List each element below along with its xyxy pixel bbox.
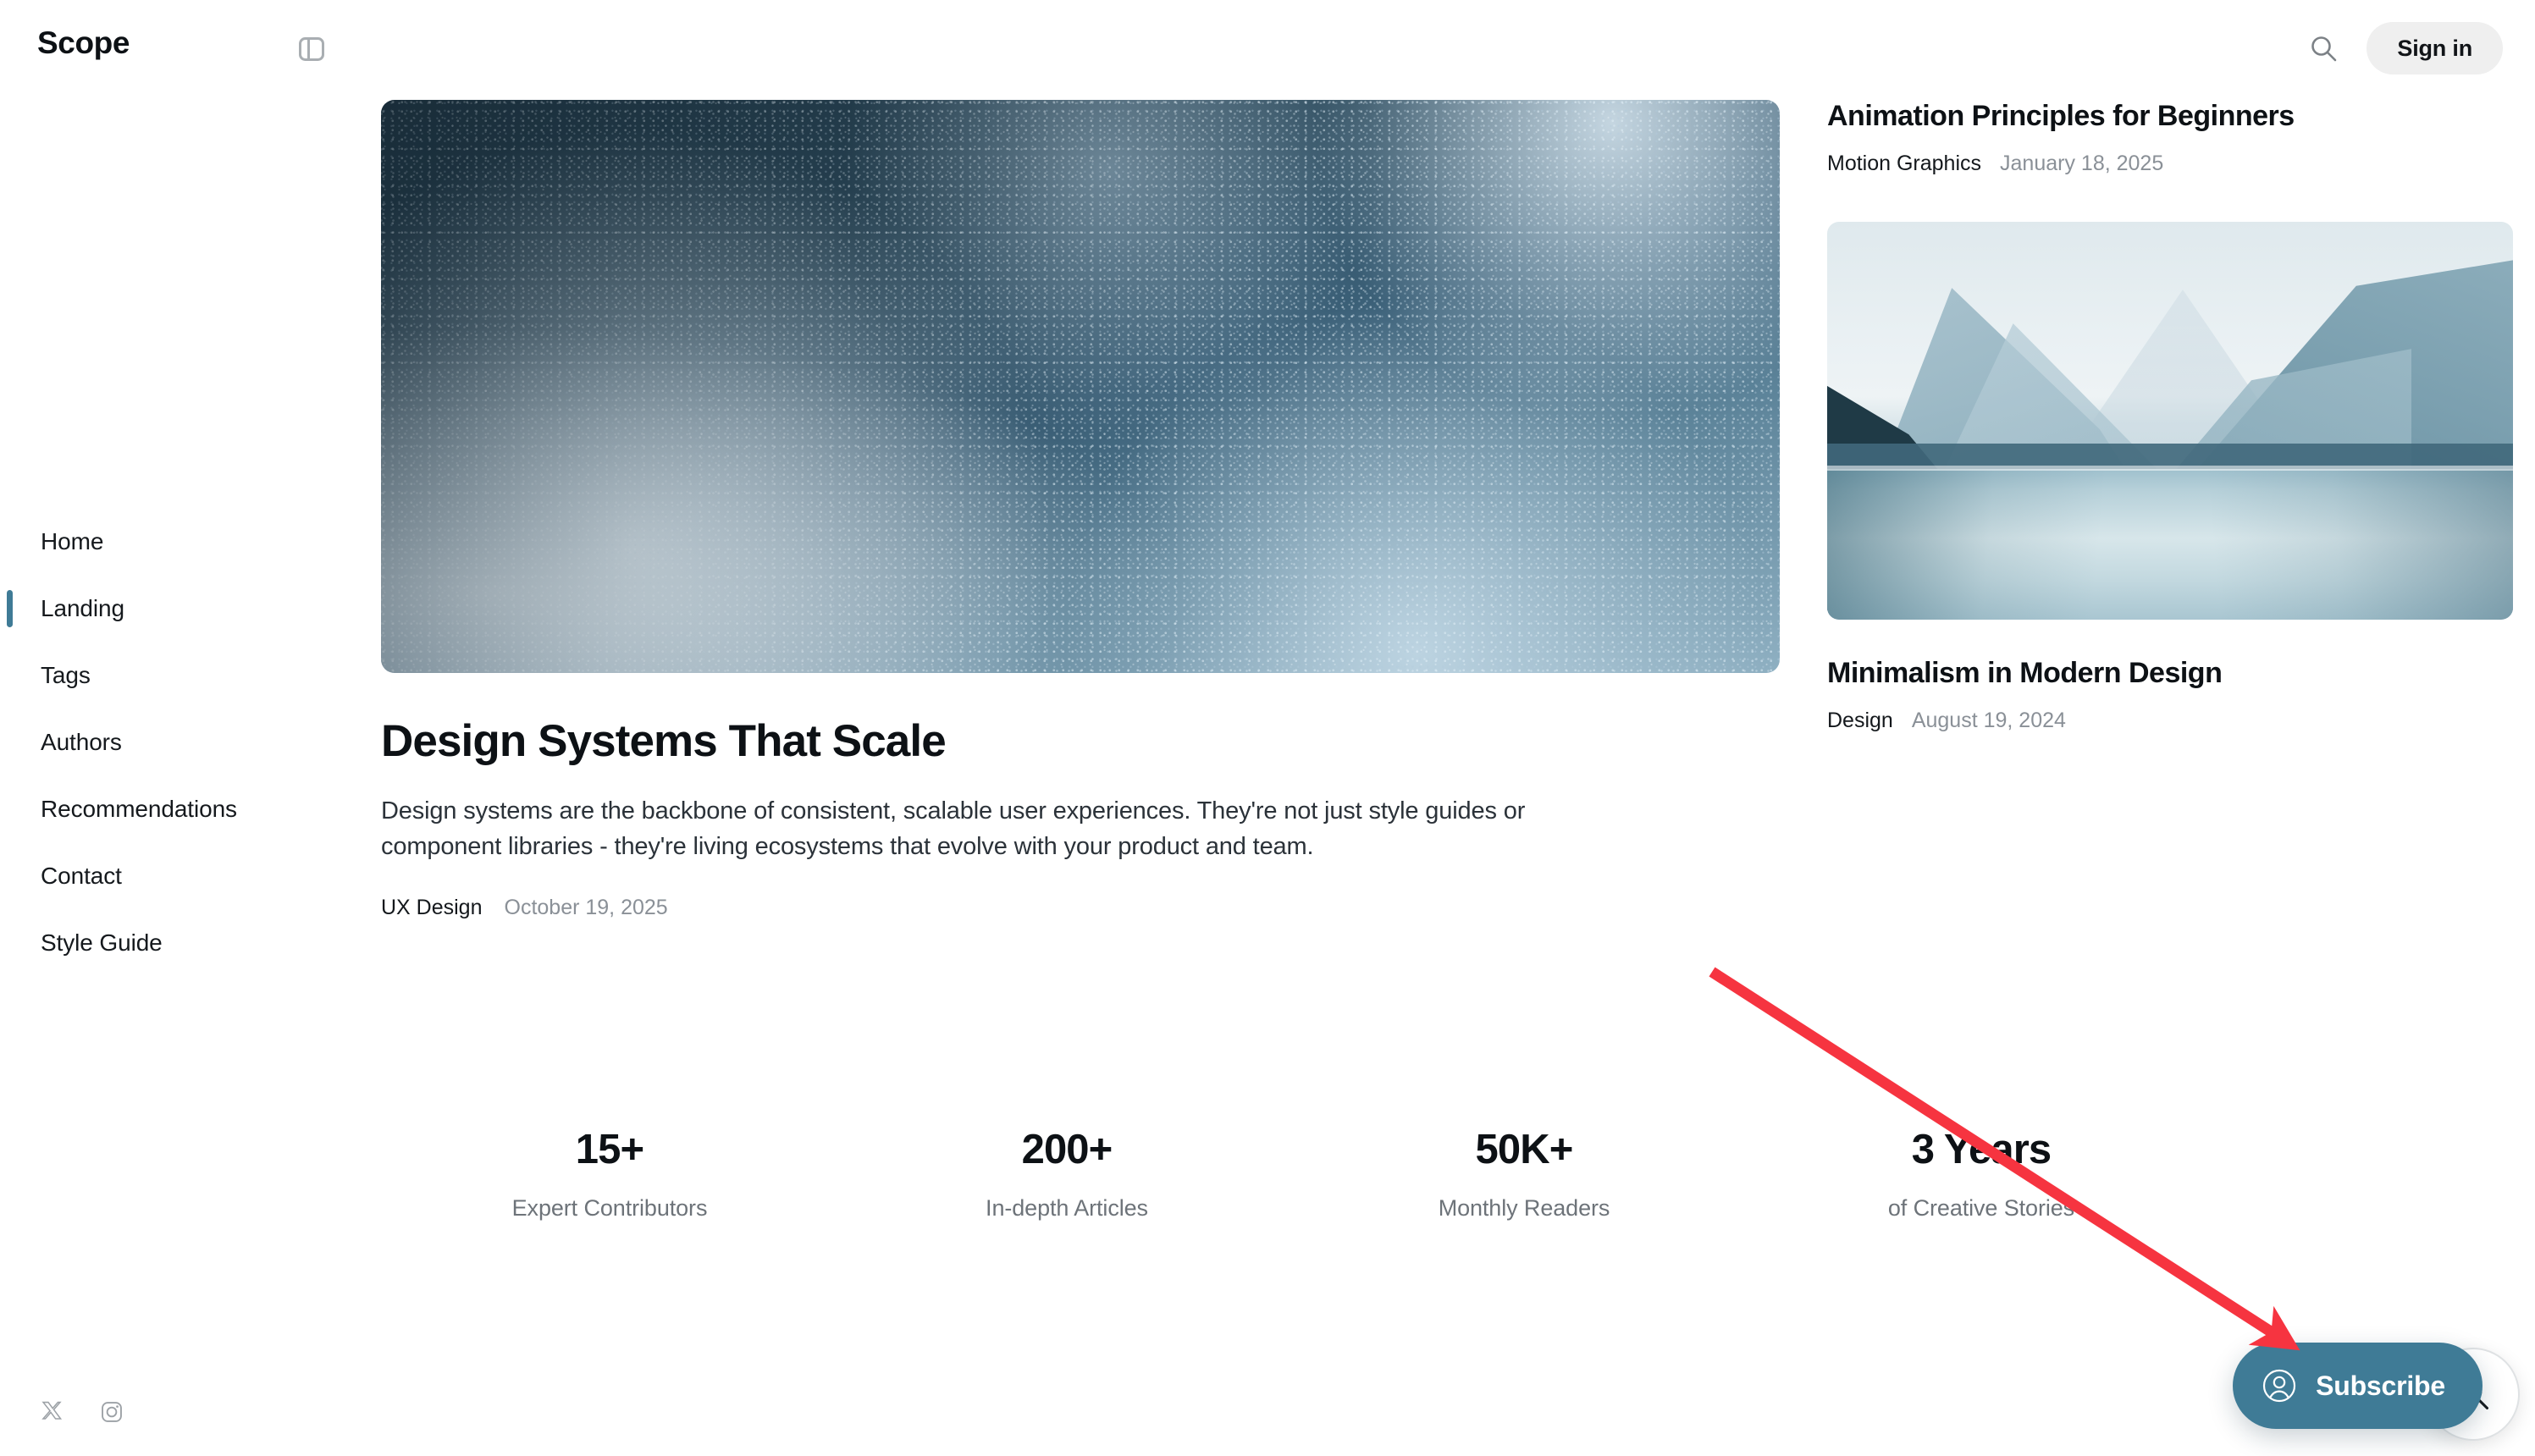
- stat-value: 200+: [838, 1126, 1295, 1173]
- side-post-category[interactable]: Design: [1827, 709, 1893, 733]
- sidebar-nav: Home Landing Tags Authors Recommendation…: [0, 508, 356, 976]
- sidebar-item-label: Landing: [41, 595, 124, 622]
- active-indicator: [7, 590, 13, 627]
- active-indicator: [7, 791, 13, 828]
- sidebar-item-style-guide[interactable]: Style Guide: [0, 909, 356, 976]
- featured-article-title[interactable]: Design Systems That Scale: [381, 717, 1780, 766]
- active-indicator: [7, 523, 13, 560]
- side-post-title[interactable]: Animation Principles for Beginners: [1827, 100, 2513, 133]
- stat-creative-stories: 3 Years of Creative Stories: [1753, 1126, 2210, 1222]
- sidebar-item-tags[interactable]: Tags: [0, 642, 356, 709]
- sidebar-item-label: Style Guide: [41, 929, 163, 957]
- sidebar-toggle-icon[interactable]: [295, 32, 329, 66]
- active-indicator: [7, 858, 13, 895]
- featured-article-meta: UX Design October 19, 2025: [381, 896, 1780, 920]
- side-post-image[interactable]: [1827, 222, 2513, 620]
- active-indicator: [7, 924, 13, 962]
- subscribe-button[interactable]: Subscribe: [2233, 1343, 2483, 1429]
- top-bar: Scope Sign in: [0, 0, 2535, 100]
- x-icon[interactable]: [41, 1400, 64, 1428]
- sidebar-item-authors[interactable]: Authors: [0, 709, 356, 775]
- water-horizon-line: [1827, 466, 2513, 471]
- stat-value: 3 Years: [1753, 1126, 2210, 1173]
- featured-article-date: October 19, 2025: [505, 896, 668, 920]
- featured-article-category[interactable]: UX Design: [381, 896, 483, 920]
- side-post-meta: Motion Graphics January 18, 2025: [1827, 152, 2513, 176]
- sidebar-item-landing[interactable]: Landing: [0, 575, 356, 642]
- instagram-icon[interactable]: [100, 1400, 124, 1428]
- side-post-date: January 18, 2025: [2000, 152, 2163, 176]
- side-post-category[interactable]: Motion Graphics: [1827, 152, 1981, 176]
- lake-reflection: [1827, 469, 2513, 620]
- side-post-date: August 19, 2024: [1912, 709, 2066, 733]
- stat-monthly-readers: 50K+ Monthly Readers: [1295, 1126, 1753, 1222]
- stat-label: In-depth Articles: [838, 1195, 1295, 1222]
- user-circle-icon: [2262, 1368, 2297, 1404]
- stat-label: Expert Contributors: [381, 1195, 838, 1222]
- sign-in-button[interactable]: Sign in: [2367, 22, 2503, 74]
- active-indicator: [7, 657, 13, 694]
- side-post-minimalism[interactable]: Minimalism in Modern Design Design Augus…: [1827, 222, 2513, 733]
- stat-expert-contributors: 15+ Expert Contributors: [381, 1126, 838, 1222]
- sidebar-item-label: Tags: [41, 662, 91, 689]
- top-bar-actions: Sign in: [2304, 22, 2503, 74]
- subscribe-label: Subscribe: [2316, 1371, 2445, 1402]
- side-post-title[interactable]: Minimalism in Modern Design: [1827, 657, 2513, 690]
- brand-logo[interactable]: Scope: [37, 25, 130, 61]
- stat-in-depth-articles: 200+ In-depth Articles: [838, 1126, 1295, 1222]
- stat-value: 50K+: [1295, 1126, 1753, 1173]
- sidebar-item-label: Recommendations: [41, 796, 237, 823]
- stat-value: 15+: [381, 1126, 838, 1173]
- side-post-animation[interactable]: Animation Principles for Beginners Motio…: [1827, 100, 2513, 176]
- featured-article[interactable]: Design Systems That Scale Design systems…: [381, 100, 1780, 920]
- stat-label: Monthly Readers: [1295, 1195, 1753, 1222]
- stats-row: 15+ Expert Contributors 200+ In-depth Ar…: [381, 1126, 2210, 1222]
- active-indicator: [7, 724, 13, 761]
- side-post-meta: Design August 19, 2024: [1827, 709, 2513, 733]
- sidebar-item-label: Contact: [41, 863, 122, 890]
- social-links: [41, 1400, 124, 1428]
- sidebar-item-label: Home: [41, 528, 103, 555]
- featured-article-image[interactable]: [381, 100, 1780, 673]
- sidebar-item-home[interactable]: Home: [0, 508, 356, 575]
- side-posts-column: Animation Principles for Beginners Motio…: [1827, 100, 2513, 733]
- featured-article-excerpt: Design systems are the backbone of consi…: [381, 793, 1575, 864]
- stat-label: of Creative Stories: [1753, 1195, 2210, 1222]
- sidebar-item-recommendations[interactable]: Recommendations: [0, 775, 356, 842]
- search-icon[interactable]: [2304, 29, 2343, 68]
- sidebar-item-label: Authors: [41, 729, 122, 756]
- sidebar-item-contact[interactable]: Contact: [0, 842, 356, 909]
